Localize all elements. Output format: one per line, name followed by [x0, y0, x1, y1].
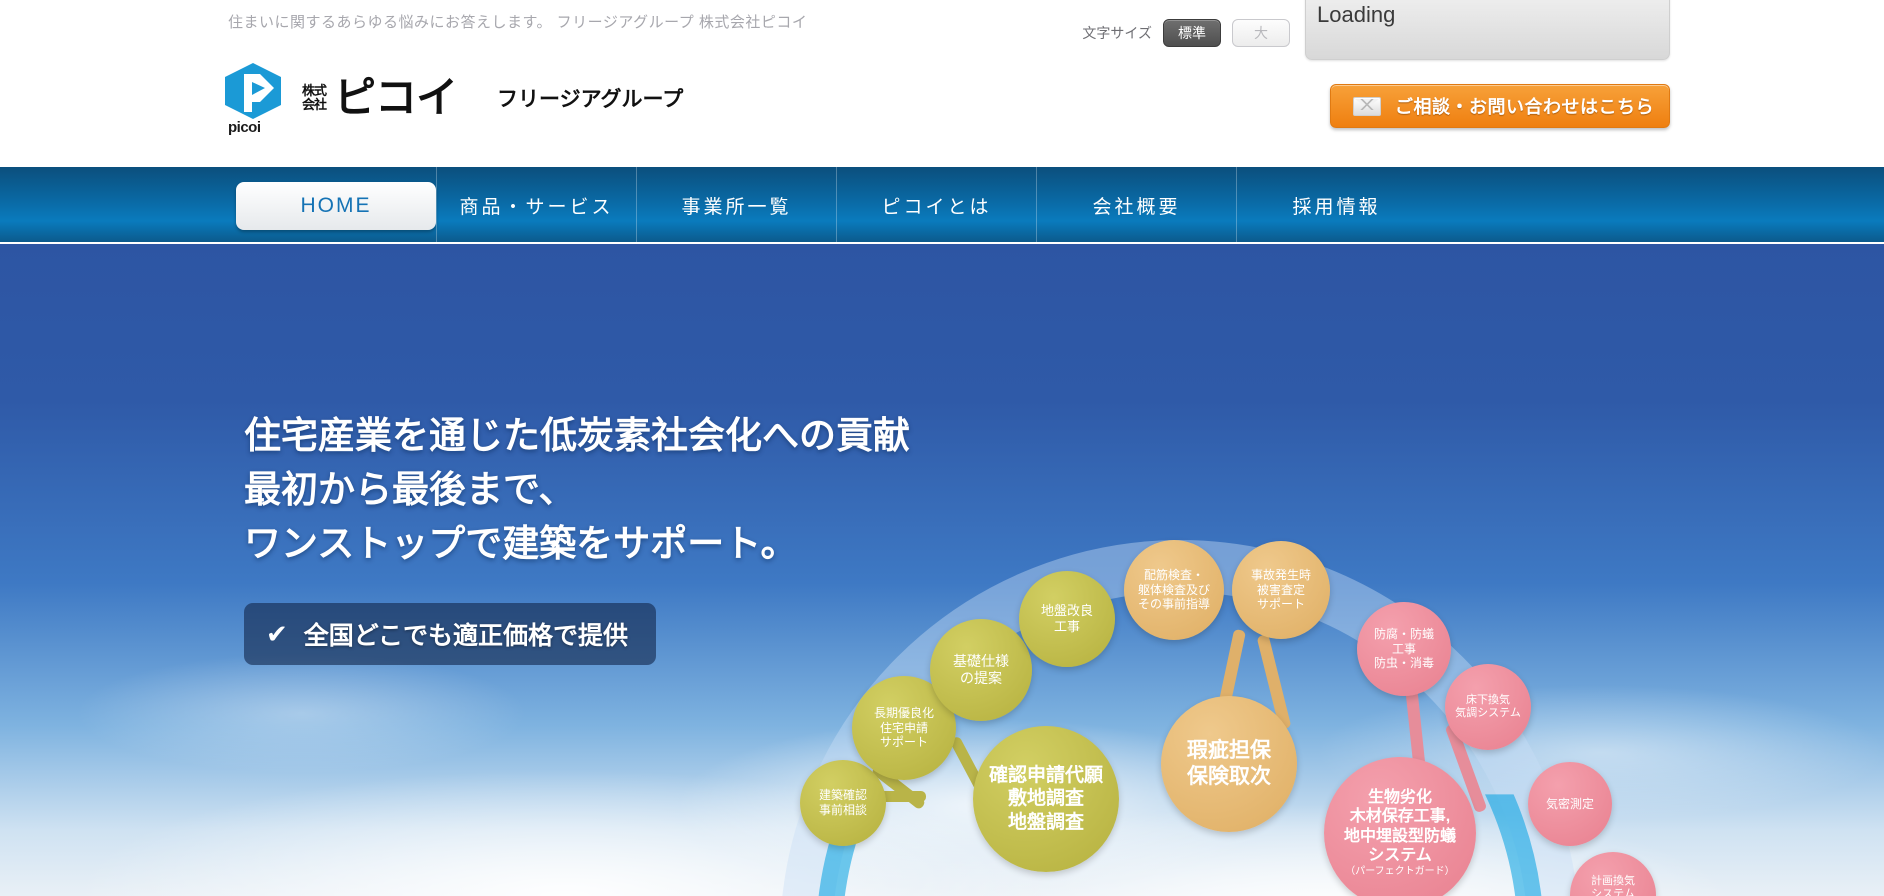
logo-group-name: フリージアグループ	[497, 83, 683, 113]
logo-wordmark: 株式 会社 ピコイ	[302, 77, 457, 119]
node-line: サポート	[874, 735, 934, 750]
node-biodegradation-wood-preservation[interactable]: 生物劣化 木材保存工事, 地中埋設型防蟻 システム （パーフェクトガード）	[1324, 757, 1476, 896]
kabushiki-line-2: 会社	[302, 98, 326, 112]
main-navigation: HOME 商品・サービス 事業所一覧 ピコイとは 会社概要 採用情報	[0, 167, 1884, 244]
nav-item-offices[interactable]: 事業所一覧	[636, 167, 836, 244]
hero-badge: ✔ 全国どこでも適正価格で提供	[244, 603, 656, 665]
node-line: 地盤改良	[1041, 603, 1093, 619]
font-size-standard-button[interactable]: 標準	[1163, 19, 1221, 47]
node-line: 床下換気	[1455, 694, 1521, 707]
node-building-confirmation-consult[interactable]: 建築確認 事前相談	[800, 760, 886, 846]
hero-banner: 住宅産業を通じた低炭素社会化への貢献 最初から最後まで、 ワンストップで建築をサ…	[0, 244, 1884, 896]
hero-headline-2: 最初から最後まで、	[244, 463, 910, 517]
hero-copy: 住宅産業を通じた低炭素社会化への貢献 最初から最後まで、 ワンストップで建築をサ…	[244, 409, 910, 665]
node-ground-improvement-work[interactable]: 地盤改良 工事	[1019, 571, 1115, 667]
nav-item-company-profile[interactable]: 会社概要	[1036, 167, 1236, 244]
node-line: サポート	[1251, 597, 1311, 612]
font-size-label: 文字サイズ	[1082, 23, 1152, 43]
site-tagline: 住まいに関するあらゆる悩みにお答えします。 フリージアグループ 株式会社ピコイ	[228, 11, 807, 32]
loading-text: Loading	[1317, 2, 1395, 28]
nav-item-recruit[interactable]: 採用情報	[1236, 167, 1436, 244]
node-airtightness-measurement[interactable]: 気密測定	[1528, 762, 1612, 846]
contact-button-label: ご相談・お問い合わせはこちら	[1395, 93, 1654, 119]
node-line: 事故発生時	[1251, 568, 1311, 583]
node-defect-warranty-insurance[interactable]: 瑕疵担保 保険取次	[1161, 696, 1297, 832]
font-size-switcher: 文字サイズ 標準 大	[1082, 19, 1290, 47]
nav-item-products-services[interactable]: 商品・サービス	[436, 167, 636, 244]
node-line: 木材保存工事,	[1344, 807, 1456, 827]
node-line: （パーフェクトガード）	[1344, 866, 1456, 878]
nav-item-about-picoi[interactable]: ピコイとは	[836, 167, 1036, 244]
node-line: の提案	[953, 670, 1009, 687]
node-accident-damage-assessment[interactable]: 事故発生時 被害査定 サポート	[1232, 541, 1330, 639]
node-anti-rot-termite-work[interactable]: 防腐・防蟻 工事 防虫・消毒	[1357, 602, 1451, 696]
node-line: 確認申請代願	[989, 764, 1103, 787]
node-line: その事前指導	[1138, 597, 1210, 612]
node-line: 瑕疵担保	[1187, 738, 1271, 764]
node-line: 気密測定	[1546, 797, 1594, 812]
picoi-hexagon-logo-icon: picoi	[222, 62, 284, 134]
node-foundation-spec-proposal[interactable]: 基礎仕様 の提案	[930, 619, 1032, 721]
mail-icon	[1353, 97, 1381, 116]
node-line: 住宅申請	[874, 721, 934, 736]
hero-badge-label: 全国どこでも適正価格で提供	[304, 616, 628, 652]
node-line: 生物劣化	[1344, 788, 1456, 808]
node-line: 配筋検査・	[1138, 568, 1210, 583]
node-line: 基礎仕様	[953, 653, 1009, 670]
nav-item-home-label: HOME	[236, 182, 436, 230]
node-line: 建築確認	[819, 788, 867, 803]
node-line: 計画換気	[1591, 875, 1635, 888]
font-size-large-button[interactable]: 大	[1232, 19, 1290, 47]
node-line: 敷地調査	[989, 787, 1103, 810]
node-line: システム	[1344, 846, 1456, 866]
node-line: 工事	[1374, 642, 1434, 657]
node-line: 被害査定	[1251, 583, 1311, 598]
node-line: 事前相談	[819, 803, 867, 818]
node-line: 長期優良化	[874, 706, 934, 721]
site-header: 住まいに関するあらゆる悩みにお答えします。 フリージアグループ 株式会社ピコイ …	[0, 0, 1884, 167]
picoi-wordmark-small: picoi	[228, 119, 261, 136]
node-line: 気調システム	[1455, 707, 1521, 720]
node-underfloor-ventilation-system[interactable]: 床下換気 気調システム	[1445, 664, 1531, 750]
site-logo[interactable]: picoi 株式 会社 ピコイ フリージアグループ	[222, 62, 683, 134]
node-rebar-frame-inspection[interactable]: 配筋検査・ 躯体検査及び その事前指導	[1124, 540, 1224, 640]
check-icon: ✔	[266, 621, 288, 647]
node-application-site-ground-survey[interactable]: 確認申請代願 敷地調査 地盤調査	[973, 726, 1119, 872]
hero-headline-3: ワンストップで建築をサポート。	[244, 517, 910, 571]
kabushiki-gaisha-label: 株式 会社	[302, 84, 326, 111]
kabushiki-line-1: 株式	[302, 84, 326, 98]
node-line: 工事	[1041, 619, 1093, 635]
nav-item-home[interactable]: HOME	[236, 167, 436, 244]
logo-company-name: ピコイ	[334, 77, 457, 119]
node-line: 地中埋設型防蟻	[1344, 827, 1456, 847]
node-line: 防虫・消毒	[1374, 656, 1434, 671]
loading-panel: Loading	[1305, 0, 1670, 60]
hero-headline-1: 住宅産業を通じた低炭素社会化への貢献	[244, 409, 910, 463]
node-line: システム	[1591, 888, 1635, 896]
node-line: 地盤調査	[989, 811, 1103, 834]
node-line: 保険取次	[1187, 764, 1271, 790]
contact-button[interactable]: ご相談・お問い合わせはこちら	[1330, 84, 1670, 128]
node-line: 防腐・防蟻	[1374, 627, 1434, 642]
node-line: 躯体検査及び	[1138, 583, 1210, 598]
